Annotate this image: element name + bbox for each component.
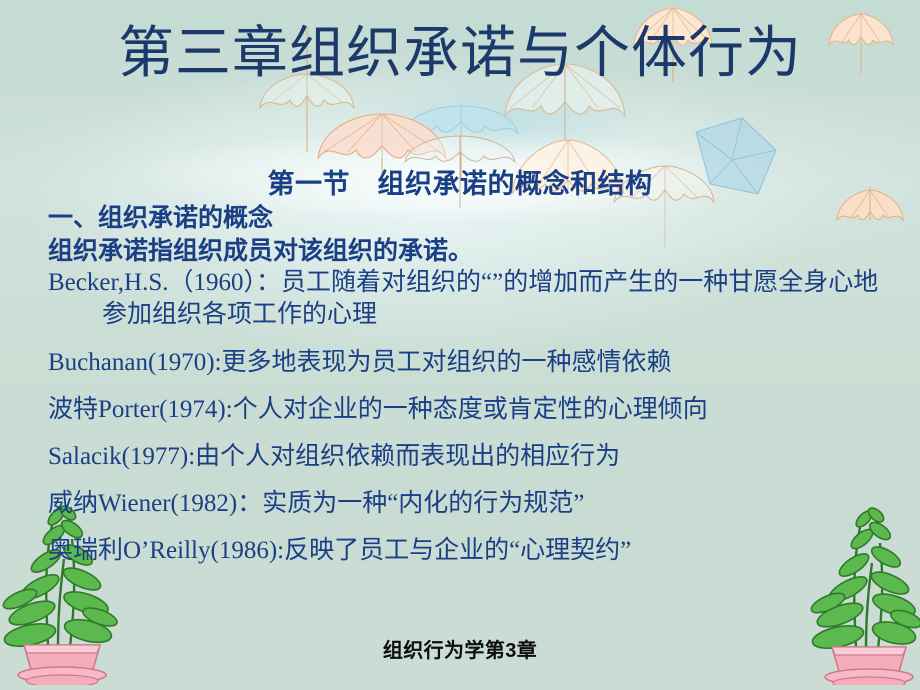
body-line-buchanan: Buchanan(1970):更多地表现为员工对组织的一种感情依赖 [48, 347, 888, 379]
slide-subtitle: 第一节 组织承诺的概念和结构 [0, 162, 920, 201]
slide-body: 一、组织承诺的概念 组织承诺指组织成员对该组织的承诺。 Becker,H.S.（… [48, 202, 888, 567]
body-line-porter: 波特Porter(1974):个人对企业的一种态度或肯定性的心理倾向 [48, 394, 888, 426]
slide-title: 第三章组织承诺与个体行为 [0, 22, 920, 85]
body-line-becker: Becker,H.S.（1960）：员工随着对组织的“”的增加而产生的一种甘愿全… [48, 267, 888, 331]
body-line-oreilly: 奥瑞利O’Reilly(1986):反映了员工与企业的“心理契约” [48, 535, 888, 567]
presentation-slide: 第三章组织承诺与个体行为 第一节 组织承诺的概念和结构 一、组织承诺的概念 组织… [0, 0, 920, 690]
body-line-salacik: Salacik(1977):由个人对组织依赖而表现出的相应行为 [48, 441, 888, 473]
slide-footer: 组织行为学第3章 [0, 634, 920, 663]
body-line-definition: 组织承诺指组织成员对该组织的承诺。 [48, 235, 888, 267]
body-line-section-heading: 一、组织承诺的概念 [48, 202, 888, 234]
body-line-wiener: 威纳Wiener(1982)：实质为一种“内化的行为规范” [48, 488, 888, 520]
